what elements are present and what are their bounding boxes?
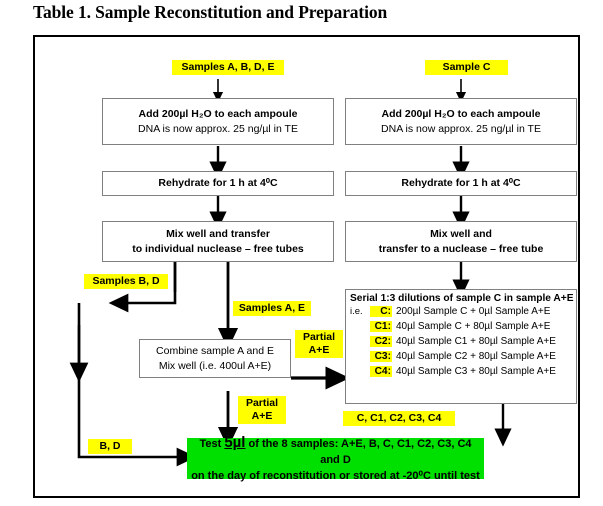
- right-step-add-water-line1: Add 200µl H₂O to each ampoule: [382, 107, 541, 121]
- label-partial-ae-bottom-line2: A+E: [242, 410, 282, 423]
- right-step-rehydrate-text: Rehydrate for 1 h at 4⁰C: [401, 176, 520, 190]
- label-partial-ae-top-line2: A+E: [299, 344, 339, 357]
- combine-box-line1: Combine sample A and E: [156, 344, 274, 358]
- left-step-rehydrate: Rehydrate for 1 h at 4⁰C: [102, 171, 334, 196]
- left-step-rehydrate-text: Rehydrate for 1 h at 4⁰C: [158, 176, 277, 190]
- right-step-mix-transfer-line1: Mix well and: [430, 227, 492, 241]
- combine-box-line2: Mix well (i.e. 400ul A+E): [159, 359, 271, 373]
- serial-dilution-panel: Serial 1:3 dilutions of sample C in samp…: [345, 289, 577, 404]
- serial-row: i.e. C: 200µl Sample C + 0µl Sample A+E: [350, 306, 572, 321]
- label-samples-abde: Samples A, B, D, E: [172, 60, 284, 75]
- right-step-rehydrate: Rehydrate for 1 h at 4⁰C: [345, 171, 577, 196]
- label-partial-ae-bottom: Partial A+E: [238, 396, 286, 424]
- serial-row: C3: 40µl Sample C2 + 80µl Sample A+E: [350, 351, 572, 366]
- serial-row: C2: 40µl Sample C1 + 80µl Sample A+E: [350, 336, 572, 351]
- combine-box: Combine sample A and E Mix well (i.e. 40…: [139, 339, 291, 378]
- right-step-add-water: Add 200µl H₂O to each ampoule DNA is now…: [345, 98, 577, 145]
- serial-row-tag: C3:: [370, 351, 392, 362]
- label-partial-ae-top-line1: Partial: [299, 331, 339, 344]
- label-c-series-output: C, C1, C2, C3, C4: [343, 411, 455, 426]
- terminal-line1: Test 5µl of the 8 samples: A+E, B, C, C1…: [191, 432, 480, 470]
- serial-row-tag: C4:: [370, 366, 392, 377]
- serial-row-tag: C1:: [370, 321, 392, 332]
- serial-row-text: 40µl Sample C1 + 80µl Sample A+E: [396, 336, 556, 347]
- serial-row-text: 200µl Sample C + 0µl Sample A+E: [396, 306, 550, 317]
- flowchart-figure: Table 1. Sample Reconstitution and Prepa…: [0, 0, 603, 506]
- serial-row-text: 40µl Sample C + 80µl Sample A+E: [396, 321, 550, 332]
- serial-row-text: 40µl Sample C3 + 80µl Sample A+E: [396, 366, 556, 377]
- label-samples-ae: Samples A, E: [233, 301, 311, 316]
- serial-dilution-heading: Serial 1:3 dilutions of sample C in samp…: [350, 293, 572, 304]
- serial-row: C1: 40µl Sample C + 80µl Sample A+E: [350, 321, 572, 336]
- terminal-volume: 5µl: [224, 434, 245, 451]
- terminal-line1-post: of the 8 samples: A+E, B, C, C1, C2, C3,…: [245, 438, 471, 467]
- terminal-test-box: Test 5µl of the 8 samples: A+E, B, C, C1…: [187, 438, 484, 479]
- label-bd: B, D: [88, 439, 132, 454]
- right-step-add-water-line2: DNA is now approx. 25 ng/µl in TE: [381, 122, 541, 136]
- serial-row-text: 40µl Sample C2 + 80µl Sample A+E: [396, 351, 556, 362]
- serial-row-tag: C:: [370, 306, 392, 317]
- label-sample-c: Sample C: [425, 60, 508, 75]
- left-step-mix-transfer: Mix well and transfer to individual nucl…: [102, 221, 334, 262]
- serial-row-tag: C2:: [370, 336, 392, 347]
- label-samples-bd: Samples B, D: [84, 274, 168, 289]
- page-title: Table 1. Sample Reconstitution and Prepa…: [33, 2, 387, 23]
- left-step-add-water-line2: DNA is now approx. 25 ng/µl in TE: [138, 122, 298, 136]
- right-step-mix-transfer: Mix well and transfer to a nuclease – fr…: [345, 221, 577, 262]
- left-step-mix-transfer-line1: Mix well and transfer: [166, 227, 270, 241]
- left-step-add-water: Add 200µl H₂O to each ampoule DNA is now…: [102, 98, 334, 145]
- terminal-line2: on the day of reconstitution or stored a…: [191, 469, 480, 485]
- serial-ie-prefix: i.e.: [350, 306, 370, 317]
- serial-row: C4: 40µl Sample C3 + 80µl Sample A+E: [350, 366, 572, 381]
- label-partial-ae-bottom-line1: Partial: [242, 397, 282, 410]
- left-step-add-water-line1: Add 200µl H₂O to each ampoule: [139, 107, 298, 121]
- right-step-mix-transfer-line2: transfer to a nuclease – free tube: [379, 242, 544, 256]
- left-step-mix-transfer-line2: to individual nuclease – free tubes: [132, 242, 304, 256]
- terminal-line1-pre: Test: [199, 438, 224, 450]
- label-partial-ae-top: Partial A+E: [295, 330, 343, 358]
